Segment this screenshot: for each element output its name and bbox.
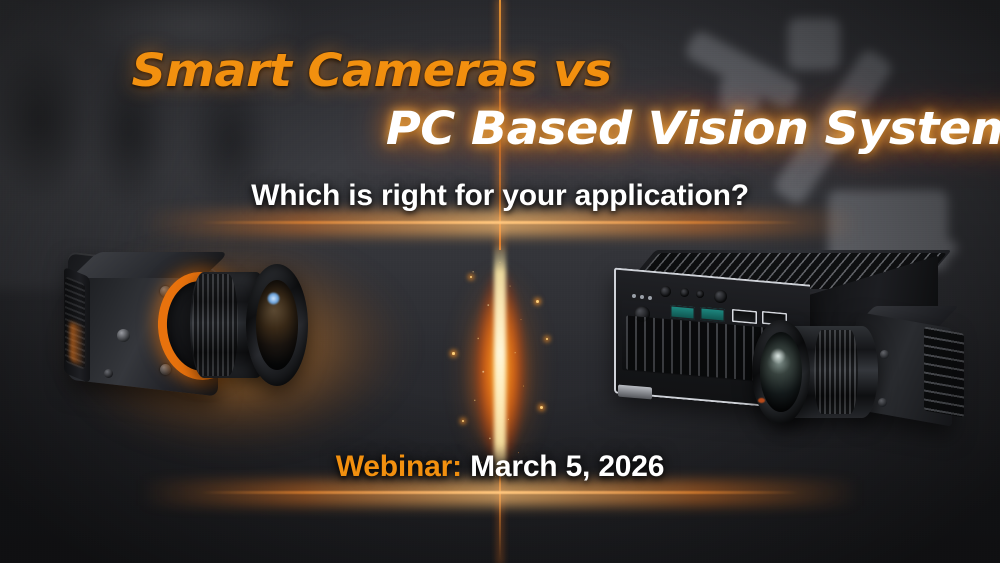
machine-vision-camera-image <box>752 318 972 428</box>
webinar-date: March 5, 2026 <box>470 450 664 483</box>
webinar-date-line: Webinar: March 5, 2026 <box>0 450 1000 484</box>
banner-canvas: Smart Cameras vs PC Based Vision Systems… <box>0 0 1000 563</box>
usb3-port <box>670 305 695 320</box>
headline-line-2: PC Based Vision Systems <box>0 102 1000 155</box>
headline-line-1: Smart Cameras vs <box>0 44 1000 97</box>
smart-camera-image <box>62 246 322 406</box>
glow-beam-top <box>200 221 800 224</box>
subtitle: Which is right for your application? <box>0 179 1000 213</box>
glow-beam-bottom <box>200 491 800 494</box>
webinar-label: Webinar: <box>336 450 462 483</box>
usb3-port <box>700 307 725 322</box>
